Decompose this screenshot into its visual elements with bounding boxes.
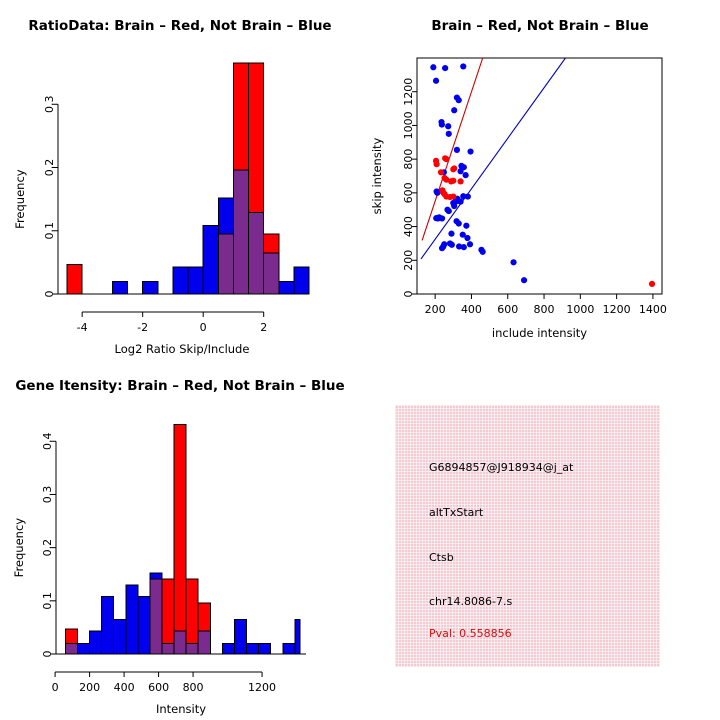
histogram-bar [126,585,138,654]
y-axis-tick-label: 0 [402,291,415,298]
histogram-bar [67,264,82,294]
y-axis-label: Frequency [12,518,26,578]
x-axis-tick-label: 600 [497,303,518,316]
histogram-bar [198,631,210,654]
regression-line [422,58,483,240]
scatter-point [521,277,527,283]
scatter-point [454,147,460,153]
histogram-bar [186,579,198,654]
x-axis-tick-label: 800 [183,681,204,694]
x-axis-tick-label: 400 [461,303,482,316]
histogram-bar [186,643,198,654]
scatter-point [463,223,469,229]
scatter-point [451,203,457,209]
y-axis-tick-label: 600 [402,182,415,203]
scatter-point [454,95,460,101]
x-axis-label: Intensity [156,702,206,716]
panel-gene-histogram: Gene Itensity: Brain – Red, Not Brain – … [0,360,360,720]
histogram-bar [247,643,259,654]
histogram-bar [162,579,174,654]
scatter-point [439,215,445,221]
scatter-point [450,193,456,199]
y-axis-tick-label: 0.4 [41,433,54,451]
histogram-bar [222,643,234,654]
scatter-point [649,281,655,287]
y-axis-tick-label: 0.2 [43,159,56,177]
x-axis-tick-label: -2 [137,321,148,334]
gene-info-box: G6894857@J918934@j_at altTxStart Ctsb ch… [395,405,660,667]
x-axis-label: include intensity [492,326,587,340]
histogram-bar [102,597,114,654]
histogram-bar [203,226,218,294]
svg-bl-root: 00.10.20.30.402004006008001200IntensityF… [12,424,306,716]
scatter-point [465,193,471,199]
svg-tr-root: 2004006008001000120014000200400600800100… [370,58,667,340]
scatter-point [434,161,440,167]
scatter-point [448,231,454,237]
scatter-point [430,64,436,70]
scatter-point [456,220,462,226]
y-axis-tick-label: 0.1 [41,592,54,610]
x-axis-tick-label: 1200 [248,681,276,694]
plot-inner [421,58,655,287]
scatter-point [450,178,456,184]
histogram-bars [67,63,309,294]
x-axis-tick-label: 1000 [566,303,594,316]
histogram-bar [218,234,233,294]
y-axis-tick-label: 1000 [402,111,415,139]
scatter-point [446,208,452,214]
histogram-bar [114,619,126,654]
scatter-point [510,259,516,265]
histogram-bar [138,597,150,654]
intensity-scatter-plot: 2004006008001000120014000200400600800100… [360,22,720,352]
histogram-bars [65,424,300,654]
info-gene-symbol: Ctsb [429,551,454,564]
scatter-point [442,65,448,71]
info-locus: chr14.8086-7.s [429,595,512,608]
x-axis-tick-label: 0 [52,681,59,694]
y-axis-tick-label: 1200 [402,78,415,106]
histogram-bar [249,212,264,294]
scatter-point [449,242,455,248]
info-event-type: altTxStart [429,506,483,519]
scatter-point [457,178,463,184]
x-axis-tick-label: 200 [79,681,100,694]
scatter-point [457,168,463,174]
x-axis-label: Log2 Ratio Skip/Include [115,342,250,356]
y-axis-tick-label: 0.1 [43,222,56,240]
x-axis-tick-label: -4 [77,321,88,334]
histogram-bar [112,281,127,294]
scatter-point [451,107,457,113]
y-axis-tick-label: 0.3 [41,486,54,504]
histogram-bar [143,281,158,294]
x-axis-tick-label: 200 [425,303,446,316]
panel-gene-info: G6894857@J918934@j_at altTxStart Ctsb ch… [360,360,720,720]
scatter-point [433,78,439,84]
histogram-bar [65,643,77,654]
histogram-bar [173,267,188,294]
histogram-bar [188,267,203,294]
histogram-bar [295,619,300,654]
y-axis-tick-label: 400 [402,216,415,237]
scatter-point [480,249,486,255]
ratio-histogram-plot: 00.10.20.3-4-202Log2 Ratio Skip/IncludeF… [0,22,360,352]
x-axis-tick-label: 2 [260,321,267,334]
scatter-point [438,169,444,175]
panel-intensity-scatter: Brain – Red, Not Brain – Blue 2004006008… [360,0,720,360]
scatter-point [463,172,469,178]
scatter-point [460,63,466,69]
histogram-bar [234,619,246,654]
y-axis-label: skip intensity [370,137,384,214]
histogram-bar [174,424,186,654]
figure-canvas: RatioData: Brain – Red, Not Brain – Blue… [0,0,720,720]
x-axis-tick-label: 1200 [603,303,631,316]
info-probe-id: G6894857@J918934@j_at [429,461,573,474]
scatter-point [439,245,445,251]
info-pval: Pval: 0.558856 [429,627,512,640]
svg-tl-root: 00.10.20.3-4-202Log2 Ratio Skip/IncludeF… [13,63,309,356]
y-axis-tick-label: 0.2 [41,539,54,557]
x-axis-tick-label: 1400 [639,303,667,316]
scatter-point [467,148,473,154]
y-axis-tick-label: 0 [41,651,54,658]
x-axis-tick-label: 0 [200,321,207,334]
gene-histogram-plot: 00.10.20.30.402004006008001200IntensityF… [0,382,360,712]
y-axis-tick-label: 200 [402,250,415,271]
scatter-point [461,244,467,250]
scatter-point [443,156,449,162]
x-axis-tick-label: 800 [534,303,555,316]
histogram-bar [78,643,90,654]
y-axis-label: Frequency [13,169,27,229]
histogram-bar [264,253,279,294]
panel-ratio-histogram: RatioData: Brain – Red, Not Brain – Blue… [0,0,360,360]
histogram-bar [283,643,295,654]
histogram-bar [90,631,102,654]
scatter-point [445,123,451,129]
scatter-point [464,235,470,241]
scatter-point [467,241,473,247]
scatter-point [439,121,445,127]
histogram-bar [259,643,271,654]
y-axis-tick-label: 0 [43,291,56,298]
x-axis-tick-label: 400 [114,681,135,694]
scatter-point [446,131,452,137]
y-axis-tick-label: 0.3 [43,96,56,114]
x-axis-tick-label: 600 [148,681,169,694]
histogram-bar [150,579,162,654]
y-axis-tick-label: 800 [402,149,415,170]
histogram-bar [174,631,186,654]
histogram-bar [294,267,309,294]
histogram-bar [162,643,174,654]
histogram-bar [279,281,294,294]
scatter-point [451,165,457,171]
histogram-bar [233,170,248,294]
